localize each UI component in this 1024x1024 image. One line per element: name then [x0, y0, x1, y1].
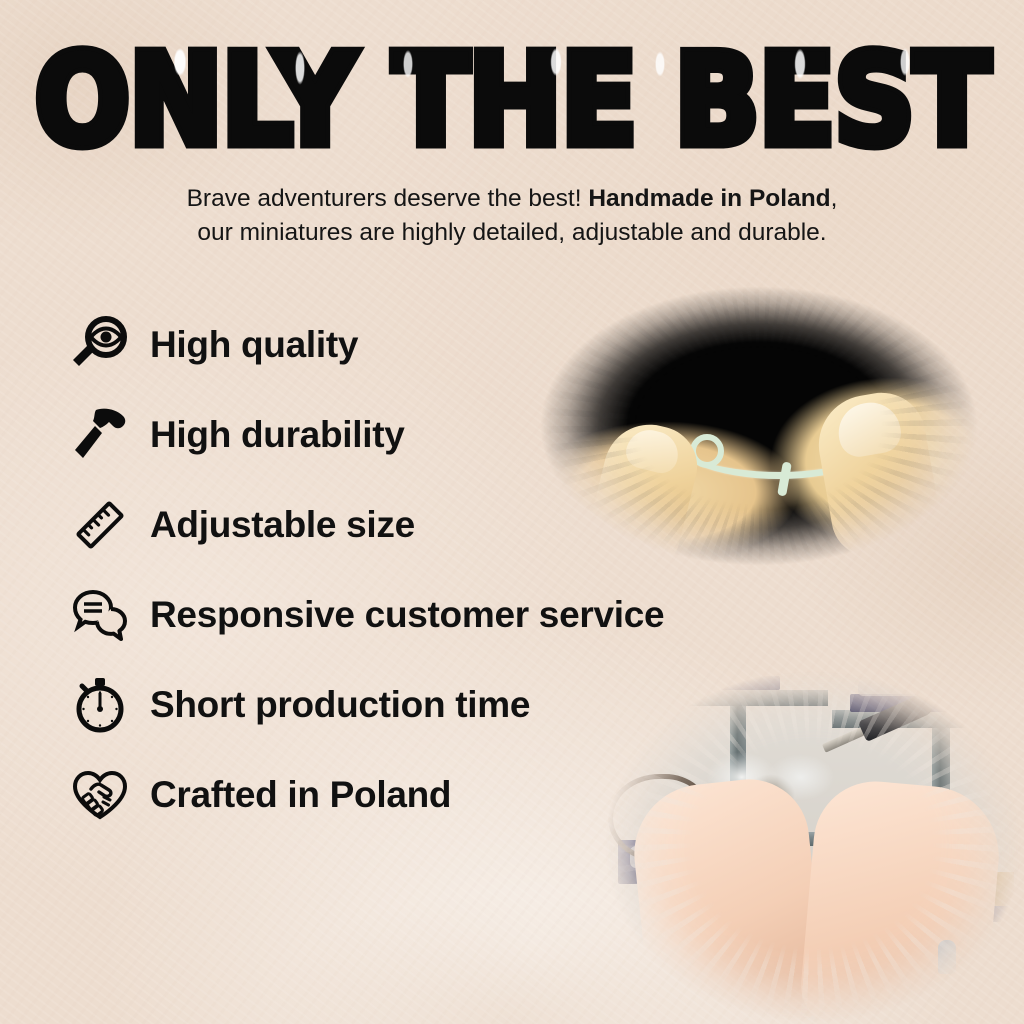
subtitle-highlight-handmade: Handmade in Poland	[588, 185, 830, 212]
photo-workshop-painting	[602, 654, 1024, 1024]
photo-workshop-painting-image	[602, 654, 1024, 1024]
hammer-icon	[62, 397, 138, 473]
stopwatch-icon	[62, 667, 138, 743]
speech-bubbles-icon	[62, 577, 138, 653]
feature-label: High quality	[150, 324, 358, 366]
fingernail-right	[834, 398, 904, 460]
magnifier-eye-icon	[62, 307, 138, 383]
handshake-heart-icon	[62, 757, 138, 833]
page-subtitle: Brave adventurers deserve the best! Hand…	[60, 182, 964, 250]
ruler-icon	[62, 487, 138, 563]
subtitle-text-post: ,	[831, 185, 838, 212]
loose-miniature-figure	[938, 940, 956, 974]
photo-flexible-miniature-image	[524, 276, 994, 576]
feature-item-responsive-customer-service: Responsive customer service	[62, 570, 762, 660]
hand-left	[627, 773, 828, 1024]
shelf-board-upper	[688, 690, 828, 706]
feature-label: Adjustable size	[150, 504, 415, 546]
feature-label: Responsive customer service	[150, 594, 664, 636]
shelf-miniatures-cluster	[858, 680, 978, 696]
feature-label: Crafted in Poland	[150, 774, 451, 816]
miniature-tray-top	[720, 676, 780, 690]
hand-right	[797, 776, 1004, 1024]
subtitle-text-pre: Brave adventurers deserve the best!	[187, 185, 589, 212]
finger-right	[811, 386, 945, 562]
subtitle-line-2: our miniatures are highly detailed, adju…	[197, 219, 826, 246]
photo-flexible-miniature	[524, 276, 994, 576]
page-title: ONLY THE BEST	[0, 38, 1024, 163]
fingernail-left	[623, 425, 683, 476]
feature-label: High durability	[150, 414, 405, 456]
feature-label: Short production time	[150, 684, 530, 726]
